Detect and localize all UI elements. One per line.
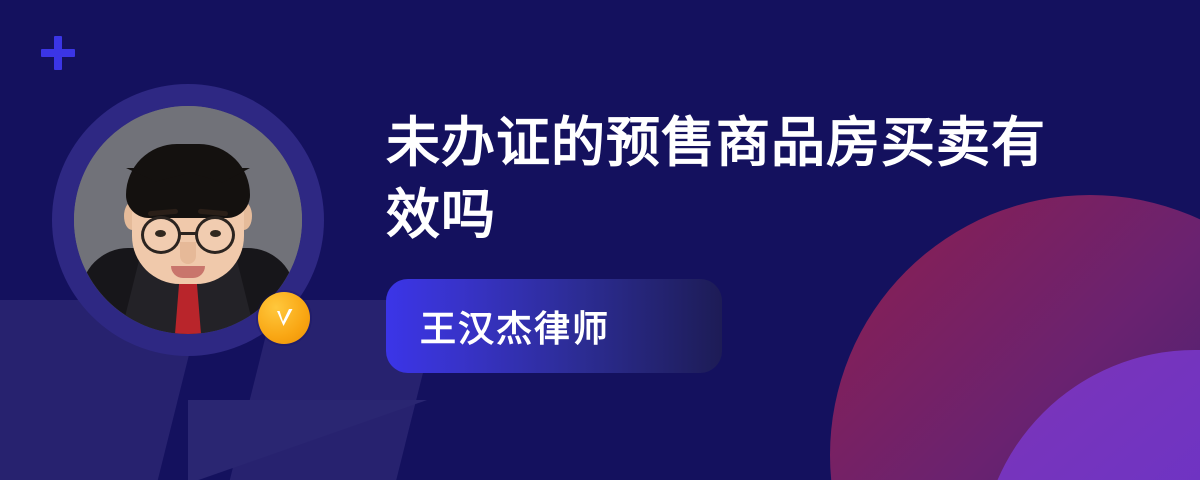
lawyer-name-button[interactable]: 王汉杰律师 — [386, 279, 722, 373]
lawyer-question-banner: 未办证的预售商品房买卖有效吗 王汉杰律师 — [0, 0, 1200, 480]
banner-content: 未办证的预售商品房买卖有效吗 王汉杰律师 — [386, 0, 1086, 480]
verified-check-icon — [258, 292, 310, 344]
plus-icon — [41, 36, 75, 70]
page-title: 未办证的预售商品房买卖有效吗 — [386, 107, 1056, 252]
